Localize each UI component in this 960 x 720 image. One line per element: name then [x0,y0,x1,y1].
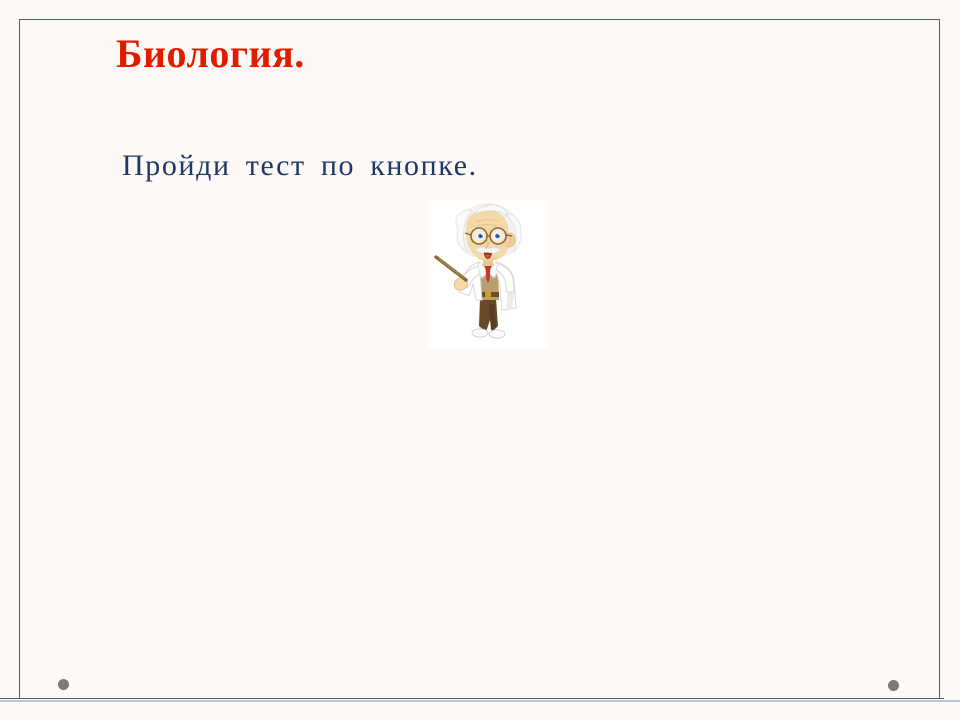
professor-svg [428,200,548,348]
slide-frame-border [19,19,940,699]
slide-frame-bottom-rule [0,700,960,702]
bullet-dot-right [888,680,899,691]
subtitle-instruction: Пройди тест по кнопке. [122,148,478,184]
bullet-dot-left [58,679,69,690]
professor-pointer-illustration [428,200,548,348]
page-title: Биология. [116,33,305,75]
slide-canvas: Биология. Пройди тест по кнопке. [0,0,960,720]
